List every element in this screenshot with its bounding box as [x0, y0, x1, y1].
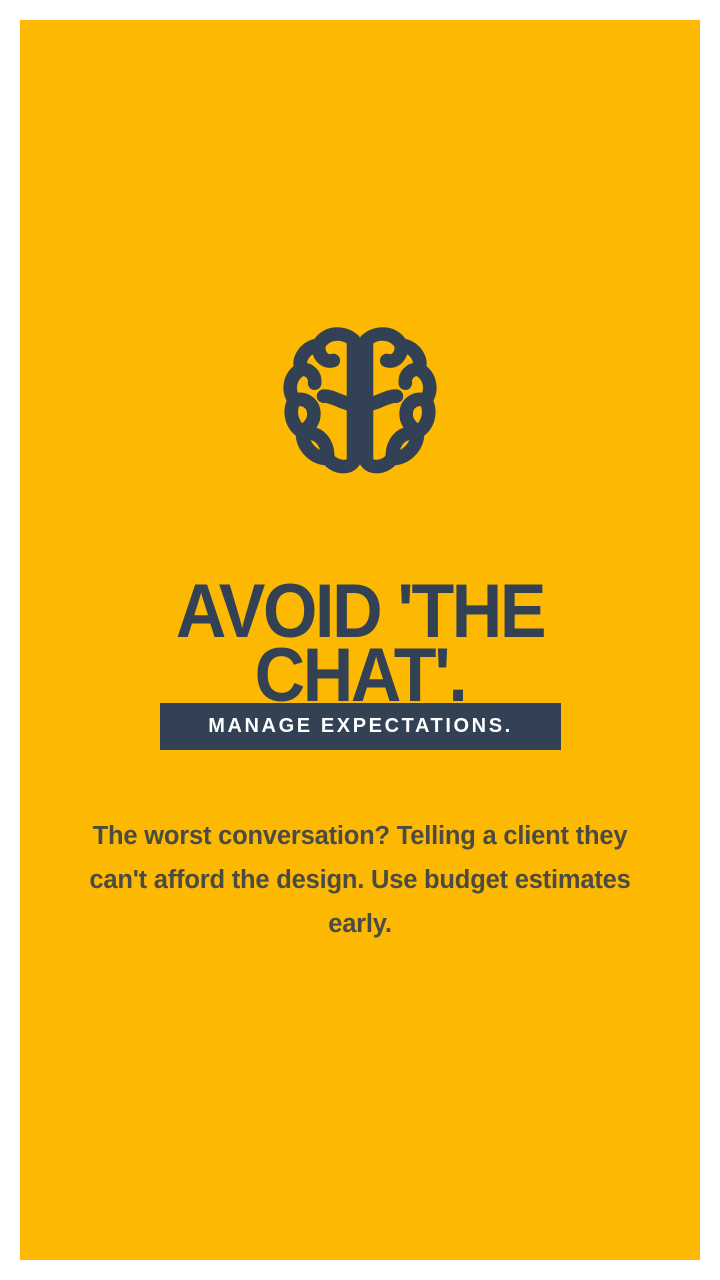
subtitle-banner: MANAGE EXPECTATIONS.: [160, 703, 561, 750]
poster-card: AVOID 'THE CHAT'. MANAGE EXPECTATIONS. T…: [20, 20, 700, 1260]
brain-icon: [279, 320, 441, 482]
brain-icon-container: [20, 320, 700, 482]
page-title: AVOID 'THE CHAT'.: [47, 580, 673, 708]
subtitle-banner-label: MANAGE EXPECTATIONS.: [208, 715, 513, 738]
body-paragraph: The worst conversation? Telling a client…: [80, 815, 640, 947]
